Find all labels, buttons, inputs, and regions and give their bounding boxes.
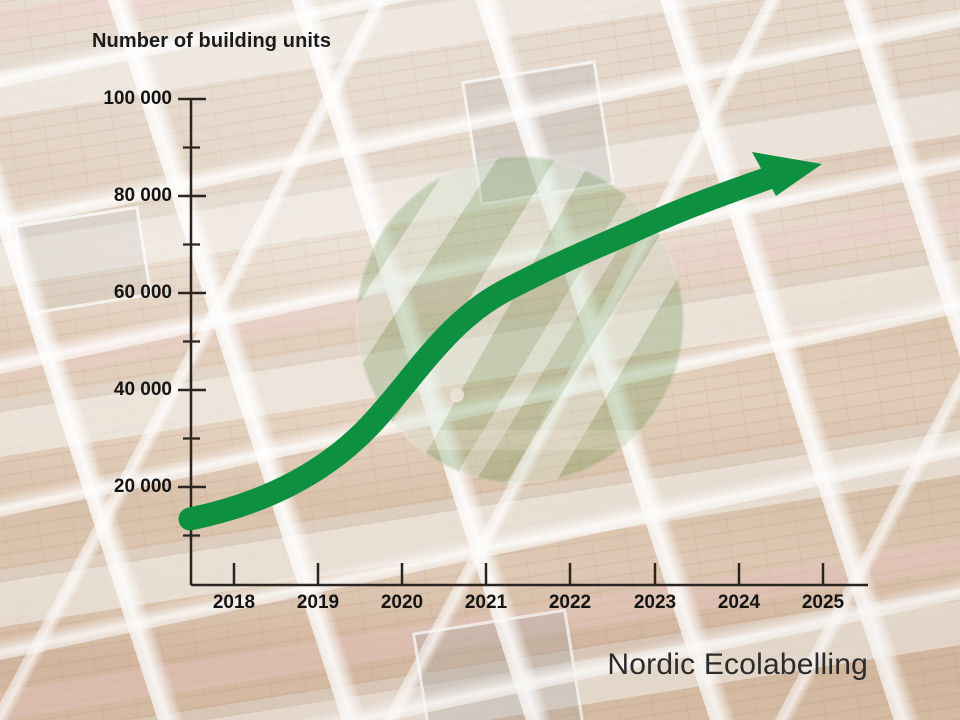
x-tick-label: 2022	[525, 592, 615, 614]
x-tick-label: 2018	[189, 592, 279, 614]
y-tick-label: 60 000	[72, 282, 172, 304]
y-tick-label: 80 000	[72, 185, 172, 207]
x-tick-label: 2024	[694, 592, 784, 614]
nordic-ecolabelling-wordmark: Nordic Ecolabelling	[607, 648, 868, 682]
x-axis-ticks	[234, 563, 823, 585]
x-tick-label: 2023	[610, 592, 700, 614]
y-tick-label: 40 000	[72, 379, 172, 401]
y-axis-labels: 100 000 80 000 60 000 40 000 20 000	[68, 0, 172, 720]
slide-canvas: Number of building units 100 000 80 000 …	[0, 0, 960, 720]
y-tick-label: 100 000	[72, 88, 172, 110]
y-tick-label: 20 000	[72, 476, 172, 498]
x-tick-label: 2021	[441, 592, 531, 614]
x-tick-label: 2025	[778, 592, 868, 614]
x-tick-label: 2019	[273, 592, 363, 614]
growth-trend-arrow	[190, 152, 822, 519]
x-tick-label: 2020	[357, 592, 447, 614]
